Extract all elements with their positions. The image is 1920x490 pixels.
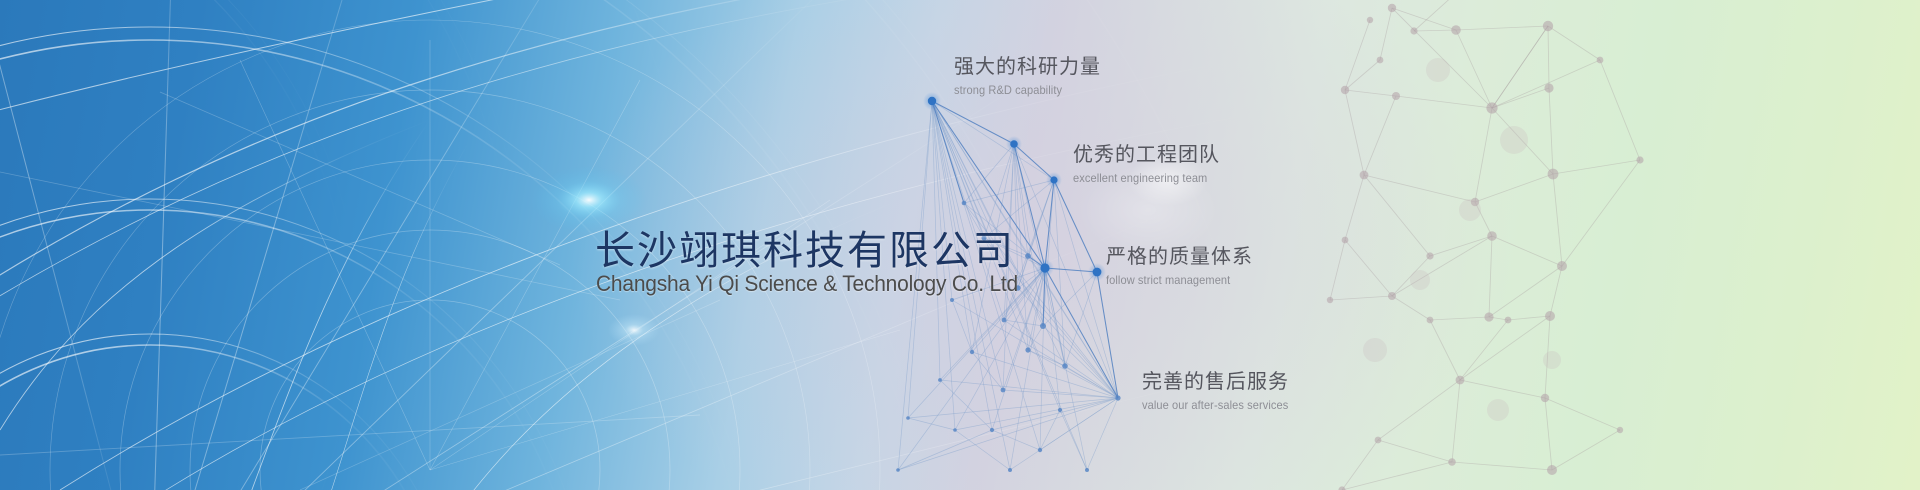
feature-label-cn: 优秀的工程团队 xyxy=(1073,138,1220,167)
feature-label-en: excellent engineering team xyxy=(1073,171,1208,185)
feature-strong-rd: 强大的科研力量 strong R&D capability xyxy=(954,50,1101,97)
feature-label-en: strong R&D capability xyxy=(954,83,1089,97)
feature-label-cn: 严格的质量体系 xyxy=(1106,240,1253,269)
node-rd xyxy=(928,97,936,105)
node-mid xyxy=(1050,176,1057,183)
page-title: 长沙翊琪科技有限公司 xyxy=(595,218,1015,276)
feature-label-cn: 完善的售后服务 xyxy=(1142,365,1301,394)
node-hub xyxy=(1040,263,1049,272)
feature-label-en: follow strict management xyxy=(1106,273,1241,287)
feature-label-cn: 强大的科研力量 xyxy=(954,50,1101,79)
feature-after-sales: 完善的售后服务 value our after-sales services xyxy=(1142,365,1301,412)
feature-label-en: value our after-sales services xyxy=(1142,398,1288,412)
feature-engineering-team: 优秀的工程团队 excellent engineering team xyxy=(1073,138,1220,185)
node-team xyxy=(1010,140,1018,148)
feature-quality-system: 严格的质量体系 follow strict management xyxy=(1106,240,1253,287)
page-subtitle: Changsha Yi Qi Science & Technology Co. … xyxy=(596,271,1018,297)
company-banner: 长沙翊琪科技有限公司 Changsha Yi Qi Science & Tech… xyxy=(0,0,1920,490)
node-quality xyxy=(1093,268,1102,277)
